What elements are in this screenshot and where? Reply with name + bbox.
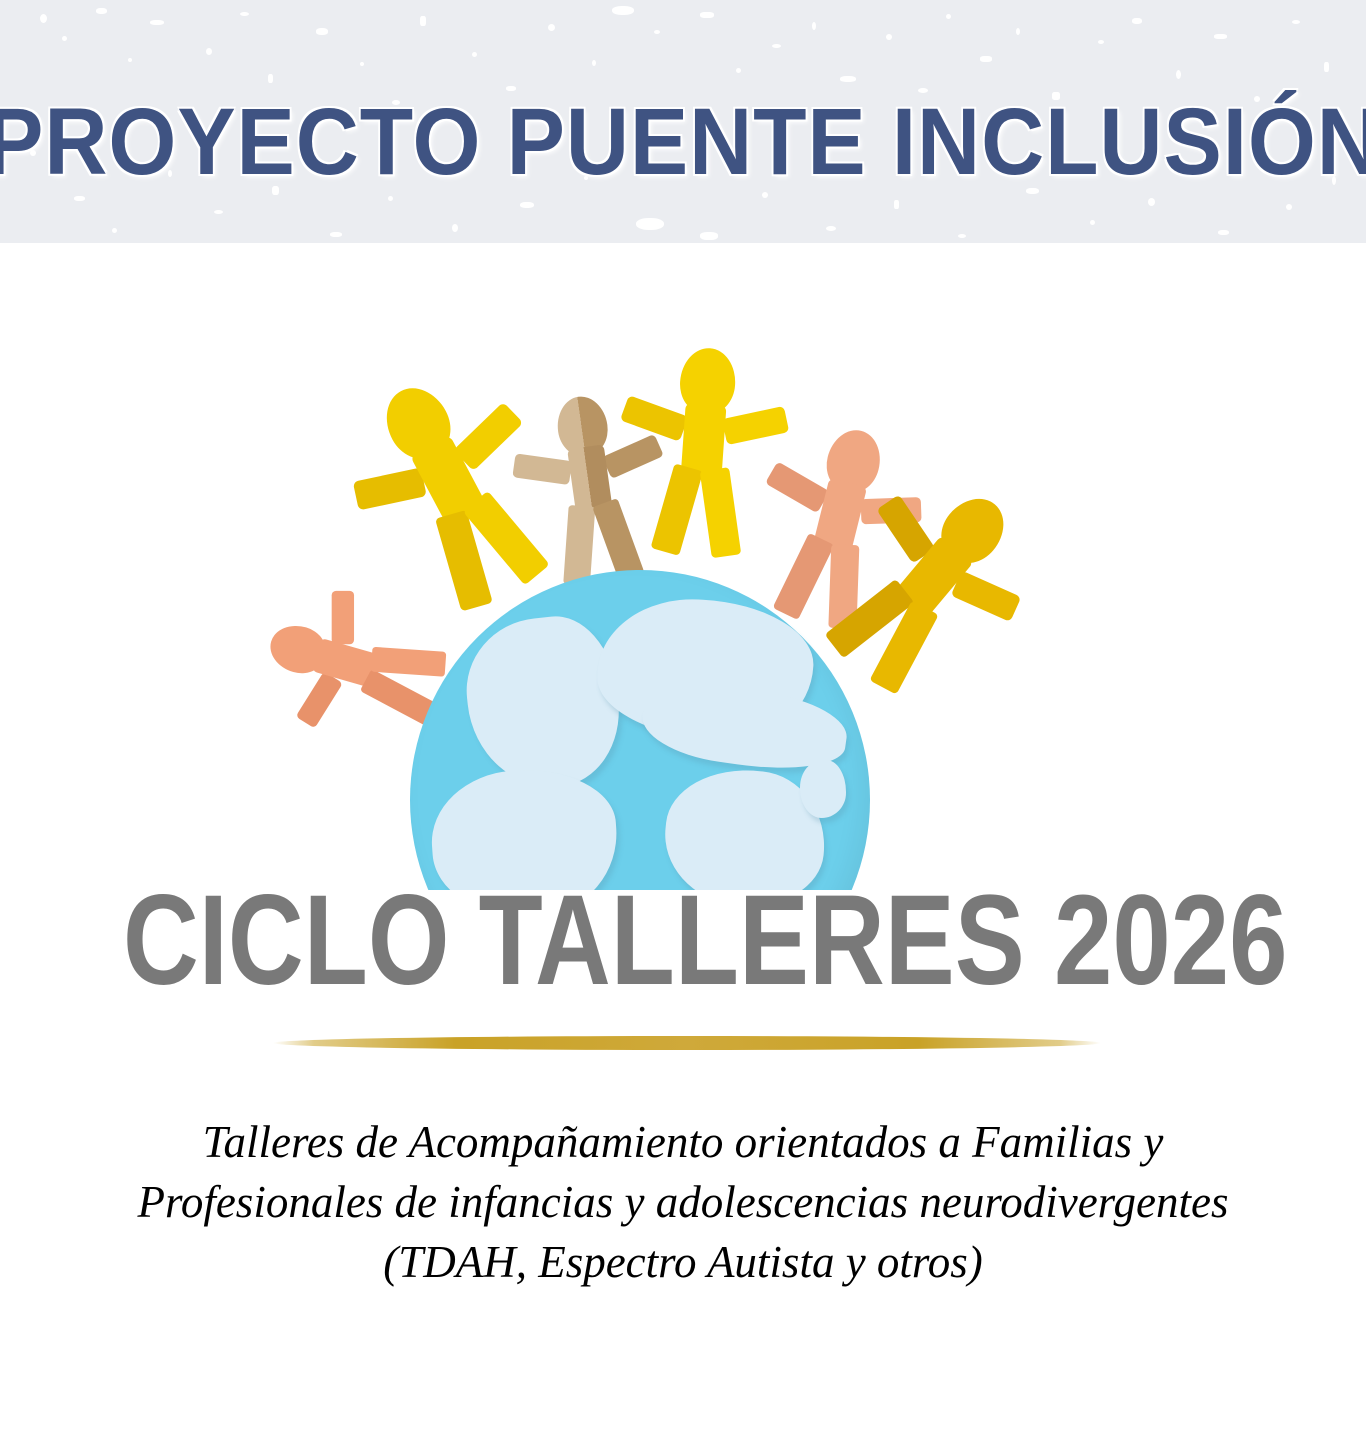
subtitle-line-1: Talleres de Acompañamiento orientados a … xyxy=(0,1112,1366,1172)
main-heading: CICLO TALLERES 2026 xyxy=(123,880,1243,1002)
subtitle-line-2: Profesionales de infancias y adolescenci… xyxy=(0,1172,1366,1232)
globe-landmass xyxy=(460,611,627,796)
gold-divider xyxy=(273,1036,1101,1050)
paper-globe-icon xyxy=(410,570,870,890)
paper-people-globe-illustration xyxy=(0,330,1366,890)
paper-person-yellow-2-icon xyxy=(635,344,771,554)
subtitle-line-3: (TDAH, Espectro Autista y otros) xyxy=(0,1232,1366,1292)
page-title: PROYECTO PUENTE INCLUSIÓN xyxy=(55,0,1312,243)
globe-landmass xyxy=(800,760,846,818)
subtitle-block: Talleres de Acompañamiento orientados a … xyxy=(0,1112,1366,1292)
header-banner: PROYECTO PUENTE INCLUSIÓN xyxy=(0,0,1366,243)
